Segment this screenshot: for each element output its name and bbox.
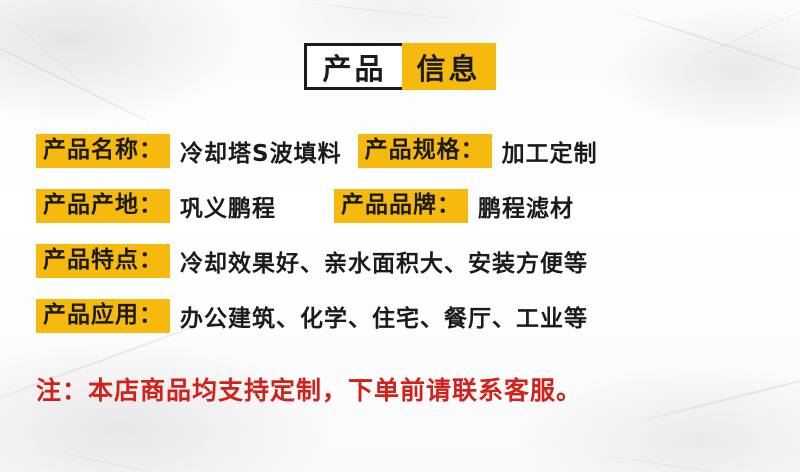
marble-vein xyxy=(300,2,459,20)
spec-value: 办公建筑、化学、住宅、餐厅、工业等 xyxy=(180,299,588,333)
spec-row: 产品应用： 办公建筑、化学、住宅、餐厅、工业等 xyxy=(0,288,800,343)
spec-list: 产品名称： 冷却塔S波填料 产品规格： 加工定制 产品产地： 巩义鹏程 产品品牌… xyxy=(0,123,800,343)
marble-vein xyxy=(600,455,749,472)
spec-value: 巩义鹏程 xyxy=(180,189,276,223)
customization-note: 注：本店商品均支持定制，下单前请联系客服。 xyxy=(36,371,582,407)
spec-row: 产品名称： 冷却塔S波填料 产品规格： 加工定制 xyxy=(0,123,800,178)
spec-value: 冷却塔S波填料 xyxy=(180,134,342,168)
spec-label: 产品应用： xyxy=(36,299,170,333)
spec-label: 产品品牌： xyxy=(334,189,468,223)
marble-vein xyxy=(640,372,800,422)
spec-value: 鹏程滤材 xyxy=(478,189,574,223)
spec-pair-application: 产品应用： 办公建筑、化学、住宅、餐厅、工业等 xyxy=(36,299,588,333)
spec-pair-name: 产品名称： 冷却塔S波填料 xyxy=(36,134,342,168)
spec-label: 产品特点： xyxy=(36,244,170,278)
title-part-outlined: 产品 xyxy=(304,43,404,90)
spec-pair-spec: 产品规格： 加工定制 xyxy=(358,134,598,168)
spec-row: 产品产地： 巩义鹏程 产品品牌： 鹏程滤材 xyxy=(0,178,800,233)
title-part-highlighted: 信息 xyxy=(402,43,496,90)
spec-pair-features: 产品特点： 冷却效果好、亲水面积大、安装方便等 xyxy=(36,244,588,278)
spec-pair-brand: 产品品牌： 鹏程滤材 xyxy=(334,189,574,223)
marble-vein xyxy=(40,448,187,472)
spec-value: 冷却效果好、亲水面积大、安装方便等 xyxy=(180,244,588,278)
title-box: 产品 信息 xyxy=(304,43,495,90)
spec-row: 产品特点： 冷却效果好、亲水面积大、安装方便等 xyxy=(0,233,800,288)
spec-label: 产品名称： xyxy=(36,134,170,168)
page-title: 产品 信息 xyxy=(0,43,800,90)
spec-value: 加工定制 xyxy=(502,134,598,168)
spec-pair-origin: 产品产地： 巩义鹏程 xyxy=(36,189,276,223)
product-info-banner: 产品 信息 产品名称： 冷却塔S波填料 产品规格： 加工定制 产品产地： 巩义鹏… xyxy=(0,0,800,472)
spec-label: 产品产地： xyxy=(36,189,170,223)
spec-label: 产品规格： xyxy=(358,134,492,168)
